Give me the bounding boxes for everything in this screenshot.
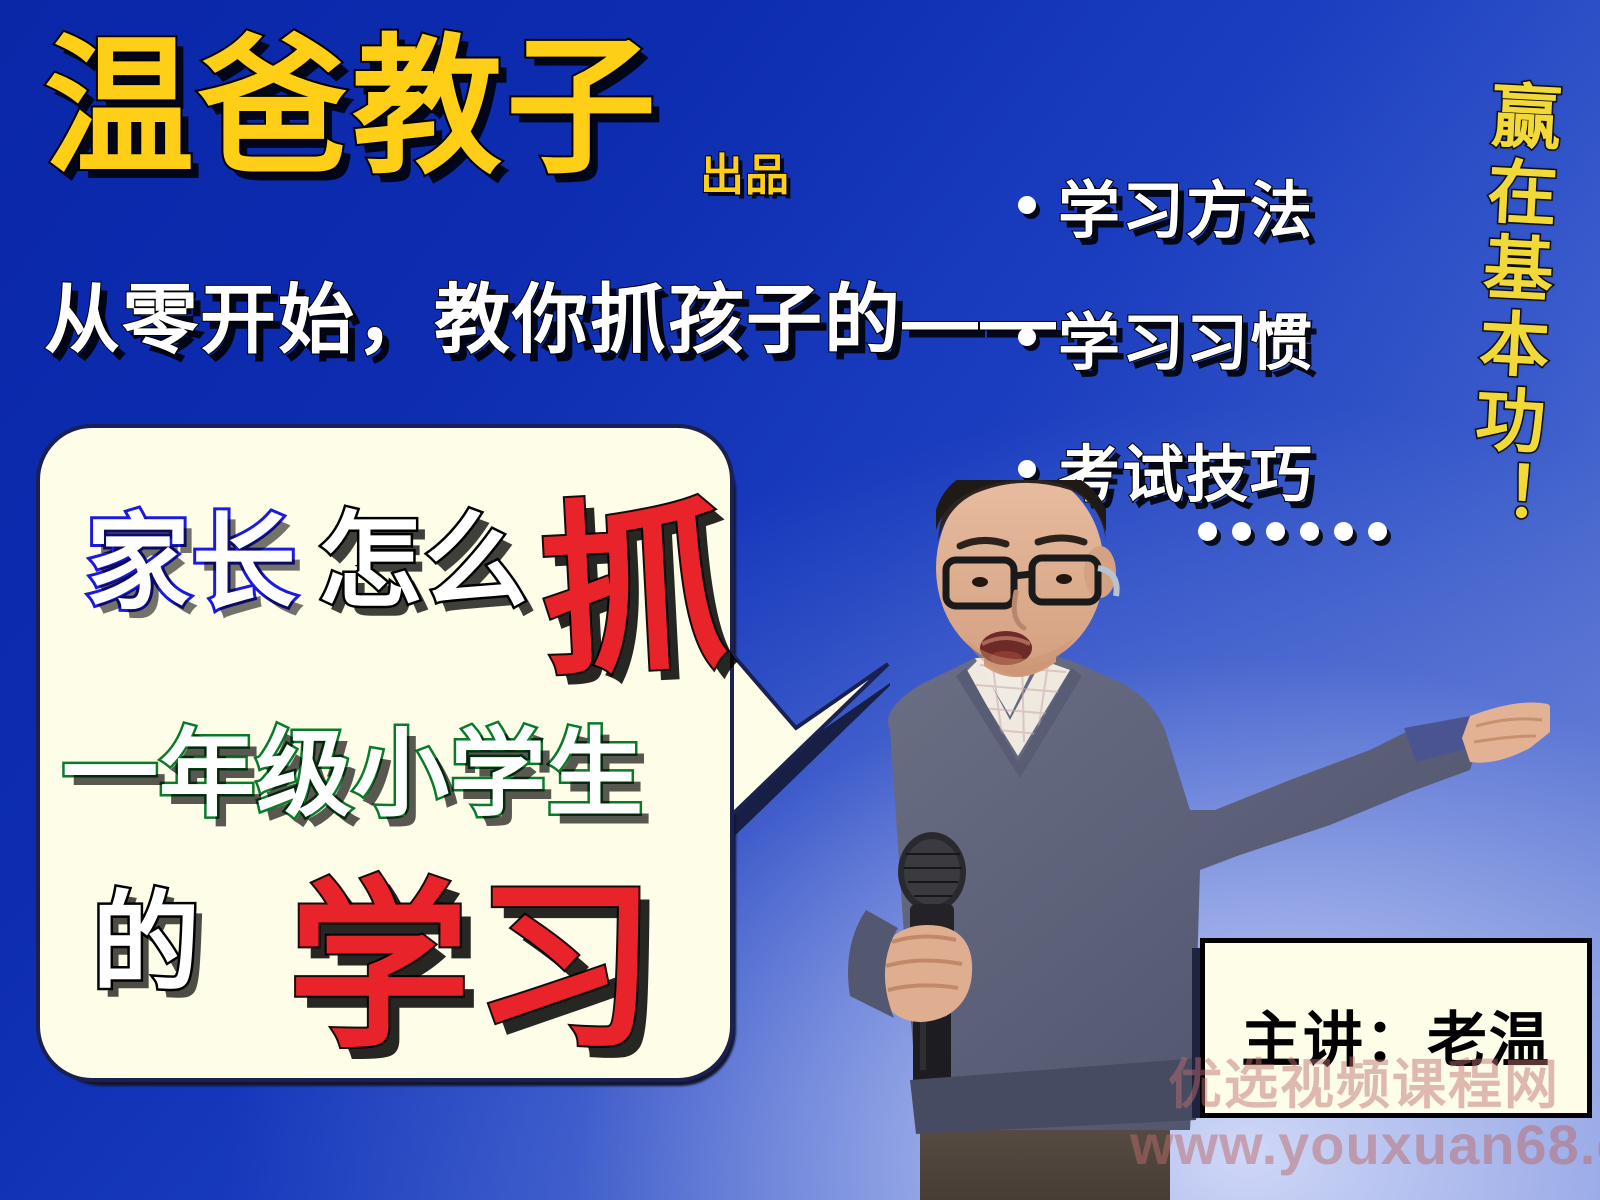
bubble-line1-highlight-zhua: 抓	[533, 433, 733, 712]
bubble-line3-de: 的	[92, 856, 200, 1012]
calligraphy-slogan: 赢在基本功！	[1400, 75, 1564, 538]
bullet-dot-icon	[1018, 196, 1036, 214]
presenter-label: 主讲：老温	[1241, 992, 1551, 1079]
bullet-dot-icon	[1018, 460, 1036, 478]
page-title: 温爸教子	[44, 26, 660, 188]
bubble-line1-how: 怎么	[318, 476, 530, 627]
list-item: 学习方法	[1018, 160, 1418, 250]
bullet-label: 学习习惯	[1058, 292, 1314, 382]
produced-by-label: 出品	[700, 139, 790, 203]
tagline: 从零开始，教你抓孩子的——	[44, 258, 1058, 368]
bubble-line3-highlight-xuexi: 学习	[288, 820, 660, 1083]
poster-root: 温爸教子 出品 从零开始，教你抓孩子的—— 学习方法 学习习惯 考试技巧 赢在基…	[0, 0, 1600, 1200]
presenter-box: 主讲：老温	[1200, 938, 1592, 1118]
list-item: 学习习惯	[1018, 292, 1418, 382]
bubble-line1-parents: 家长	[86, 478, 298, 629]
bullet-dot-icon	[1018, 328, 1036, 346]
speech-bubble: 家长 怎么 抓 一年级小学生 的 学习	[36, 424, 734, 1082]
bullet-label: 学习方法	[1058, 160, 1314, 250]
bubble-line2-grade: 一年级小学生	[62, 696, 644, 835]
